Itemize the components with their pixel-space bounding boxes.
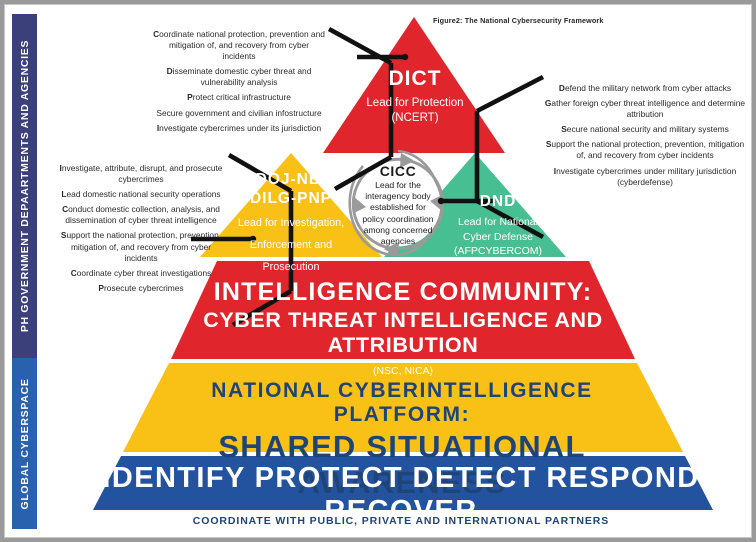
dnd-title: DND [433, 193, 563, 211]
dict-subtitle-line1: Lead for Protection [335, 96, 495, 112]
cicc-label-group: CICC Lead for the interagency body estab… [350, 163, 446, 247]
connector-dot-dict [402, 54, 408, 60]
callout-item-initial: C [62, 204, 68, 214]
callout-item: Lead domestic national security operatio… [57, 189, 225, 200]
callout-item: Support the national protection, prevent… [57, 230, 225, 263]
callout-item: Investigate cybercrimes under its jurisd… [153, 123, 325, 134]
cicc-line6: agencies [350, 236, 446, 247]
cicc-line1: Lead for the [350, 180, 446, 191]
intelligence-community-line2: CYBER THREAT INTELLIGENCE AND ATTRIBUTIO… [193, 308, 613, 358]
cicc-line5: among concerned [350, 225, 446, 236]
dict-title: DICT [335, 67, 495, 92]
callout-item-initial: P [187, 92, 193, 102]
callout-item: Coordinate cyber threat investigations [57, 268, 225, 279]
callout-item: Investigate cybercrimes under military j… [541, 166, 749, 188]
callout-item-initial: D [559, 83, 565, 93]
cicc-line3: established for [350, 202, 446, 213]
cicc-line2: interagency body [350, 191, 446, 202]
dnd-subtitle-line1: Lead for National [433, 215, 563, 229]
callout-item-initial: G [545, 98, 552, 108]
doj-title-line1: DOJ-NBI [223, 171, 359, 190]
dict-label-group: DICT Lead for Protection (NCERT) [335, 67, 495, 127]
callout-item: Secure government and civilian infostruc… [153, 108, 325, 119]
callout-item-initial: S [61, 230, 67, 240]
cicc-title: CICC [350, 163, 446, 179]
callout-item-initial: D [167, 66, 173, 76]
callout-item: Disseminate domestic cyber threat and vu… [153, 66, 325, 88]
doj-dilg-label-group: DOJ-NBI DILG-PNP Lead for Investigation,… [223, 171, 359, 274]
callout-item-initial: L [61, 189, 66, 199]
dnd-subtitle-line2: Cyber Defense [433, 230, 563, 244]
callout-item: Conduct domestic collection, analysis, a… [57, 204, 225, 226]
callout-item: Protect critical infrastructure [153, 92, 325, 103]
callout-item: Support the national protection, prevent… [541, 139, 749, 161]
intelligence-community-line3: (NSC, NICA) [193, 365, 613, 377]
dnd-subtitle-line3: (AFPCYBERCOM) [433, 244, 563, 258]
doj-subtitle-line1: Lead for Investigation, [223, 216, 359, 231]
callout-dnd: Defend the military network from cyber a… [541, 83, 749, 188]
callout-item: Coordinate national protection, preventi… [153, 29, 325, 62]
doj-subtitle-line2: Enforcement and [223, 238, 359, 253]
callout-dict: Coordinate national protection, preventi… [153, 29, 325, 134]
callout-item-initial: I [157, 123, 159, 133]
callout-item: Defend the military network from cyber a… [541, 83, 749, 94]
callout-item: Gather foreign cyber threat intelligence… [541, 98, 749, 120]
callout-item: Prosecute cybercrimes [57, 283, 225, 294]
figure-page: PH GOVERNMENT DEPAARTMENTS AND AGENCIES … [4, 4, 752, 538]
callout-item: Investigate, attribute, disrupt, and pro… [57, 163, 225, 185]
callout-item-initial: I [554, 166, 556, 176]
dnd-label-group: DND Lead for National Cyber Defense (AFP… [433, 193, 563, 259]
platform-line1: NATIONAL CYBERINTELLIGENCE PLATFORM: [167, 379, 637, 427]
dict-subtitle-line2: (NCERT) [335, 111, 495, 127]
callout-item-initial: I [60, 163, 62, 173]
doj-subtitle-line3: Prosecution [223, 260, 359, 275]
intelligence-community-line1: INTELLIGENCE COMMUNITY: [193, 278, 613, 307]
cicc-line4: policy coordination [350, 214, 446, 225]
footer-caption: COORDINATE WITH PUBLIC, PRIVATE AND INTE… [101, 515, 701, 527]
callout-item-initial: S [546, 139, 552, 149]
screenshot-canvas: PH GOVERNMENT DEPAARTMENTS AND AGENCIES … [0, 0, 756, 542]
callout-item: Secure national security and military sy… [541, 124, 749, 135]
callout-doj: Investigate, attribute, disrupt, and pro… [57, 163, 225, 294]
callout-item-initial: C [153, 29, 159, 39]
callout-item-initial: P [98, 283, 104, 293]
intelligence-community-label-group: INTELLIGENCE COMMUNITY: CYBER THREAT INT… [193, 278, 613, 377]
callout-item-initial: C [71, 268, 77, 278]
doj-title-line2: DILG-PNP [223, 190, 359, 209]
callout-item-initial: S [561, 124, 567, 134]
